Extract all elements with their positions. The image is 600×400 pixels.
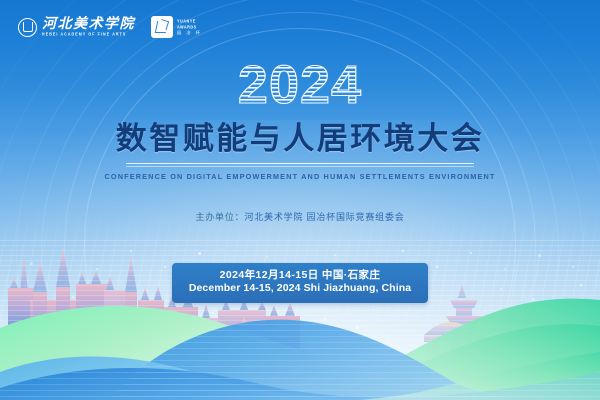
rule-line-2 (126, 166, 474, 167)
logo-yuanye-award: YUANYE AWARDS 园 冶 杯 (151, 16, 202, 38)
conference-poster: 河北美术学院 HEBEI ACADEMY OF FINE ARTS YUANYE… (0, 0, 600, 400)
year-heading: 2024 (0, 55, 600, 113)
organizer-names: 河北美术学院 园冶杯国际竞赛组委会 (244, 212, 404, 222)
logo-bar: 河北美术学院 HEBEI ACADEMY OF FINE ARTS YUANYE… (18, 16, 202, 38)
page-subtitle: CONFERENCE ON DIGITAL EMPOWERMENT AND HU… (0, 172, 600, 181)
svg-text:2024: 2024 (238, 55, 362, 113)
logo-hebei-cn: 河北美术学院 (42, 18, 135, 32)
logo-hebei-en: HEBEI ACADEMY OF FINE ARTS (42, 33, 135, 37)
date-en: December 14-15, 2024 Shi Jiazhuang, Chin… (189, 282, 411, 295)
yuanye-mark-icon (151, 16, 173, 38)
logo-yuanye-cn: 园 冶 杯 (177, 31, 202, 35)
logo-hebei-academy: 河北美术学院 HEBEI ACADEMY OF FINE ARTS (18, 18, 135, 37)
logo-hebei-wordmark: 河北美术学院 HEBEI ACADEMY OF FINE ARTS (42, 18, 135, 37)
date-cn: 2024年12月14-15日 中国·石家庄 (189, 269, 411, 282)
organizer-line: 主办单位：河北美术学院 园冶杯国际竞赛组委会 (0, 210, 600, 223)
poster-content: 2024 数智赋能与人居环境大会 CONFERENCE ON DIGITAL E… (0, 0, 600, 303)
logo-yuanye-wordmark: YUANYE AWARDS 园 冶 杯 (177, 19, 202, 36)
organizer-label: 主办单位： (195, 212, 244, 222)
date-location-badge: 2024年12月14-15日 中国·石家庄 December 14-15, 20… (172, 263, 428, 303)
page-title: 数智赋能与人居环境大会 (0, 123, 600, 154)
rule-line-1 (126, 163, 474, 164)
title-rules (126, 163, 474, 167)
logo-yuanye-en1: YUANYE (177, 19, 202, 25)
seal-icon (18, 18, 37, 37)
